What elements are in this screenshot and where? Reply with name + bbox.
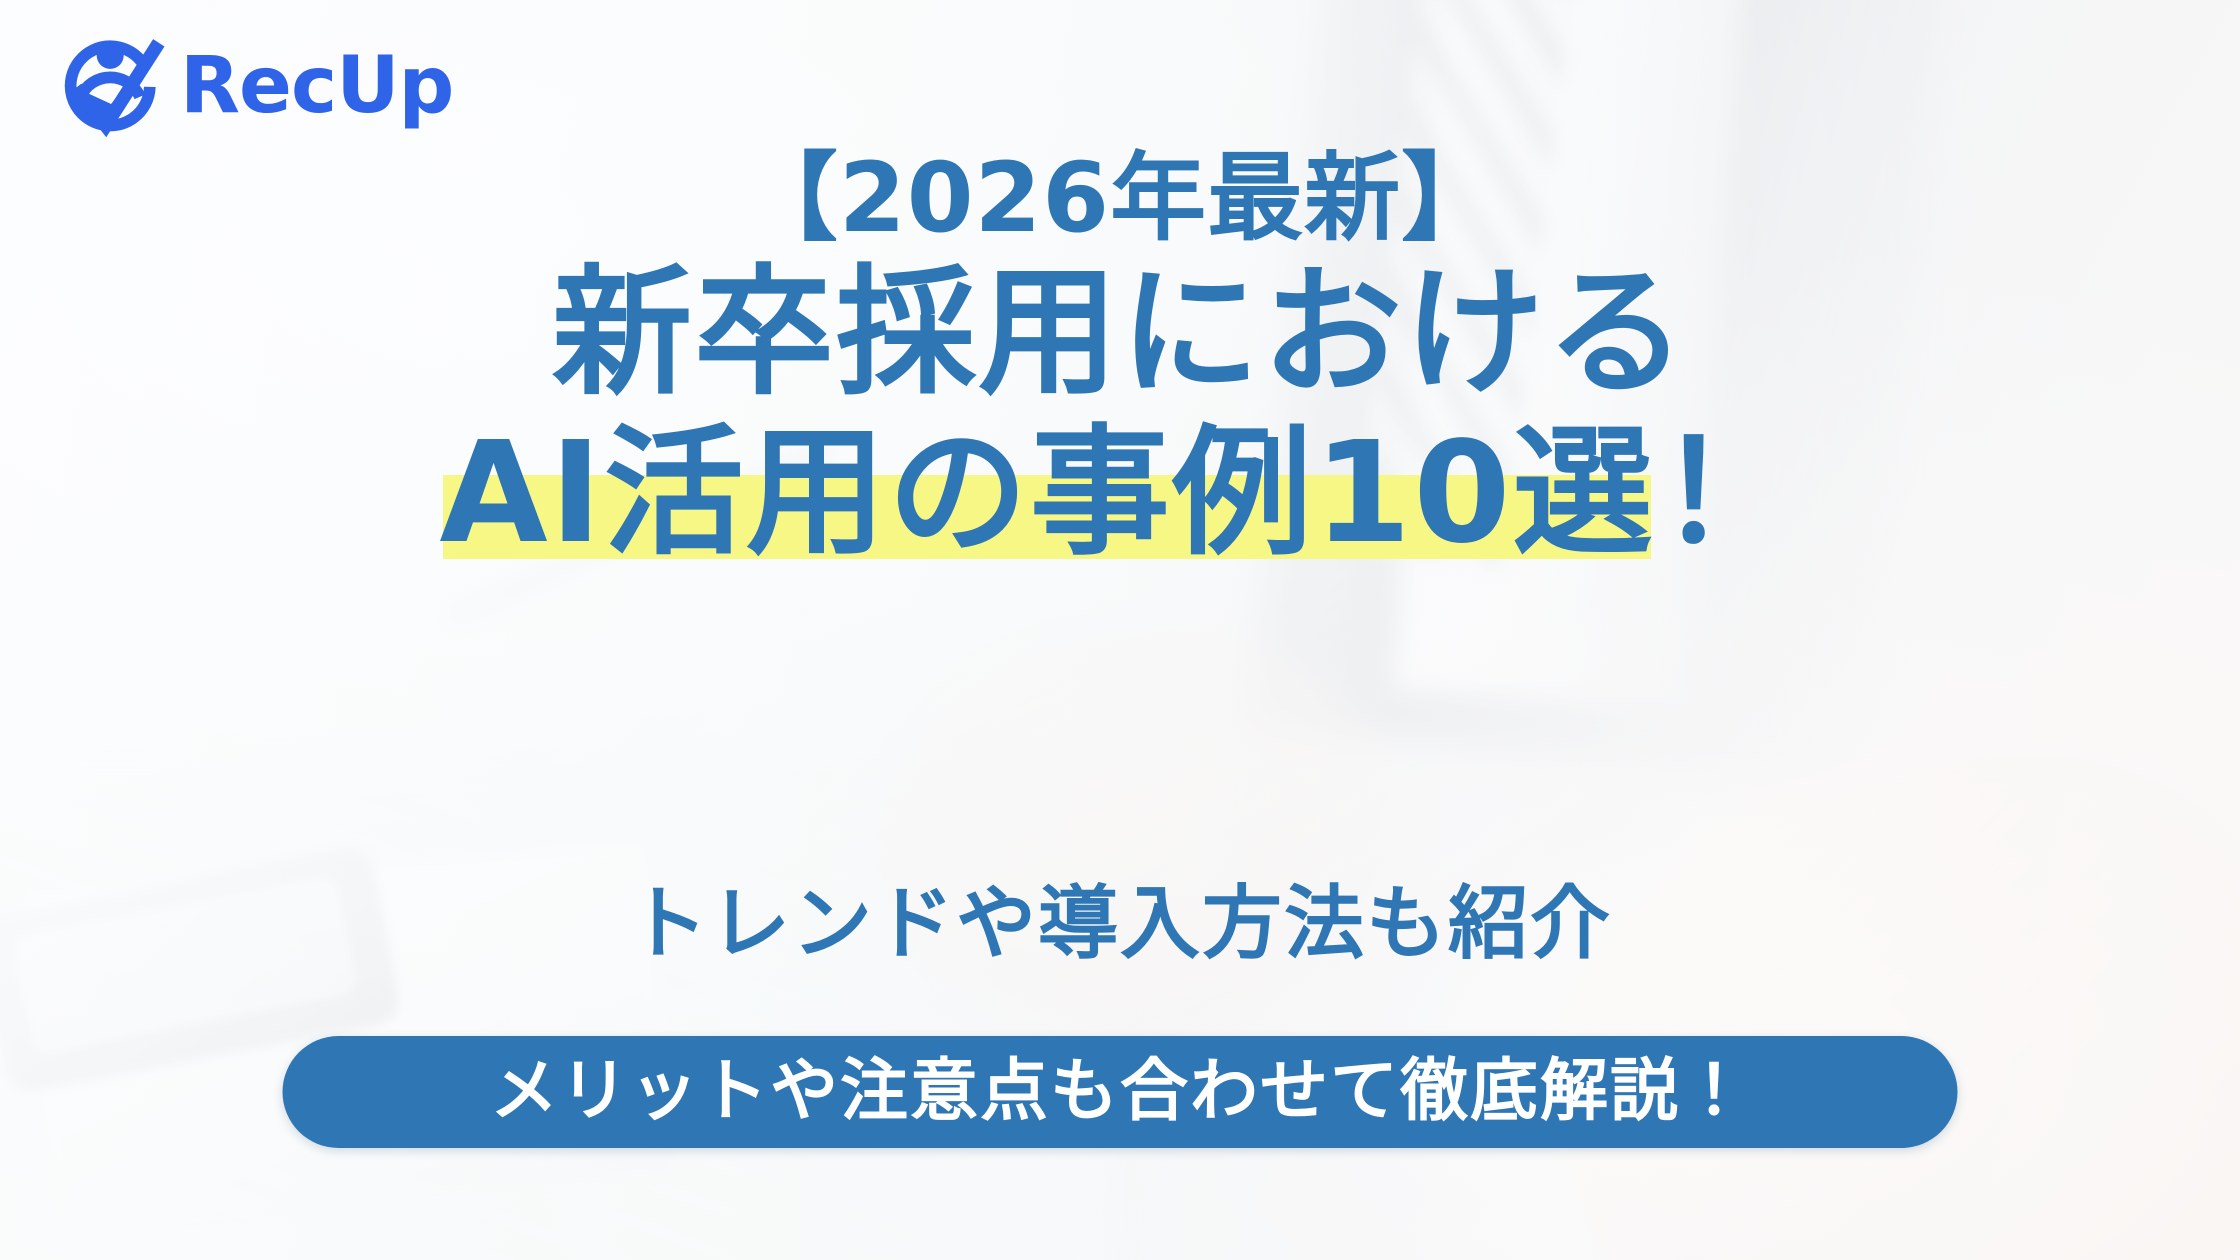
highlighted-phrase-text: AI活用の事例10選 — [439, 412, 1654, 575]
highlighted-phrase: AI活用の事例10選 — [439, 414, 1654, 574]
headline-exclamation: ！ — [1659, 412, 1801, 575]
headline-kicker: 【2026年最新】 — [0, 150, 2240, 248]
brand-logo[interactable]: RecUp — [58, 32, 453, 140]
headline-line-1: 新卒採用における — [0, 254, 2240, 414]
person-check-circle-icon — [58, 32, 166, 140]
brand-name: RecUp — [180, 47, 453, 125]
cta-label: メリットや注意点も合わせて徹底解説！ — [490, 1058, 1750, 1126]
subtitle: トレンドや導入方法も紹介 — [0, 880, 2240, 968]
headline-block: 【2026年最新】 新卒採用における AI活用の事例10選 ！ — [0, 150, 2240, 573]
eyecatch-banner: RecUp 【2026年最新】 新卒採用における AI活用の事例10選 ！ トレ… — [0, 0, 2240, 1260]
cta-pill[interactable]: メリットや注意点も合わせて徹底解説！ — [283, 1036, 1958, 1148]
headline-line-2: AI活用の事例10選 ！ — [0, 414, 2240, 574]
